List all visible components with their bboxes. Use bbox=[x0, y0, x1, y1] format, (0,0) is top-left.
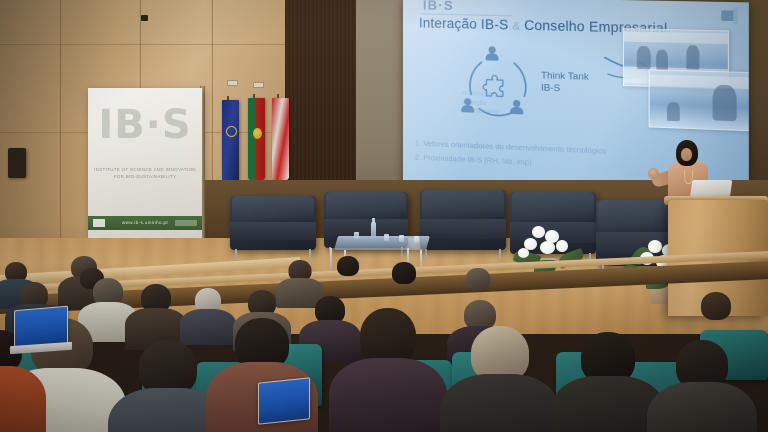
diagram-faint-line3: financiamento bbox=[461, 107, 499, 117]
person-head bbox=[466, 268, 491, 290]
speaker-face bbox=[681, 148, 692, 161]
conference-room-scene: IB·S Interação IB-S & Conselho Empresari… bbox=[0, 0, 768, 432]
chair-seat bbox=[420, 219, 506, 239]
banner-subtitle: INSTITUTE OF SCIENCE AND INNOVATION FOR … bbox=[94, 166, 196, 180]
slide-logo: IB·S bbox=[423, 0, 454, 13]
chair-leg bbox=[425, 249, 427, 259]
ibs-corner-logo-icon bbox=[721, 10, 733, 21]
slide-title-ampersand: & bbox=[512, 20, 520, 32]
wall-socket[interactable] bbox=[227, 80, 238, 86]
diagram-faint-text: Associação obtenção financiamento bbox=[461, 90, 499, 117]
drinking-glass[interactable] bbox=[414, 236, 419, 243]
person-icon bbox=[510, 100, 523, 117]
meeting-room-photo-2 bbox=[649, 69, 749, 131]
wall-fixture bbox=[141, 15, 148, 21]
chair-back bbox=[326, 192, 406, 219]
slide-bullet-list: 1. Vetores orientadores do desenvolvimen… bbox=[415, 136, 606, 173]
flag-regional bbox=[272, 98, 289, 180]
slide-title-main: Interação IB-S bbox=[419, 15, 508, 32]
think-tank-label-line2: IB-S bbox=[541, 82, 589, 96]
chair-back bbox=[422, 190, 504, 219]
wall-seam bbox=[60, 0, 61, 262]
chair-leg bbox=[235, 249, 237, 259]
chair-back bbox=[232, 196, 314, 222]
flower bbox=[532, 226, 545, 238]
photo-content bbox=[650, 70, 749, 130]
chair-seat bbox=[230, 222, 316, 240]
person-shoulders bbox=[440, 374, 560, 432]
speaker-hand bbox=[648, 168, 659, 179]
think-tank-label: Think Tank IB-S bbox=[541, 70, 589, 96]
wall-speaker-box bbox=[8, 148, 26, 178]
flower bbox=[540, 241, 555, 254]
banner-footer-partner-logos bbox=[175, 220, 197, 226]
think-tank-diagram: Think Tank IB-S Associação obtenção fina… bbox=[455, 45, 585, 129]
flag-portugal bbox=[248, 98, 265, 180]
photo-figure bbox=[656, 50, 668, 70]
flag-european-union bbox=[222, 100, 239, 182]
photo-window-band bbox=[624, 31, 728, 44]
person-shoulders bbox=[329, 358, 447, 432]
photo-figure bbox=[713, 85, 737, 122]
chair-back bbox=[512, 192, 594, 222]
person-shoulders bbox=[180, 309, 236, 345]
wall-socket[interactable] bbox=[253, 82, 264, 88]
drinking-glass[interactable] bbox=[384, 234, 389, 241]
person-head bbox=[701, 292, 731, 320]
stage-armchair[interactable] bbox=[420, 190, 506, 250]
person-head bbox=[337, 256, 359, 276]
water-bottle[interactable] bbox=[371, 222, 376, 239]
flower bbox=[648, 240, 662, 253]
banner-logo: IB·S bbox=[88, 102, 202, 148]
person-body bbox=[510, 107, 523, 115]
drinking-glass[interactable] bbox=[354, 232, 359, 239]
flower bbox=[556, 240, 568, 252]
banner-footer-strip: www.ib-s.uminho.pt bbox=[88, 216, 202, 230]
slide-corner-accent bbox=[733, 7, 737, 24]
chair-leg bbox=[309, 249, 311, 259]
audience-laptop-screen[interactable] bbox=[258, 377, 310, 424]
person-icon bbox=[485, 46, 498, 63]
chair-leg bbox=[499, 249, 501, 259]
person-head bbox=[392, 262, 416, 284]
person-head bbox=[489, 46, 496, 53]
photo-figure bbox=[667, 102, 680, 121]
stage-armchair[interactable] bbox=[230, 196, 316, 250]
flower bbox=[518, 248, 529, 258]
photo-figure bbox=[637, 46, 651, 69]
person-shoulders bbox=[647, 382, 757, 432]
person-body bbox=[485, 54, 498, 61]
person-head bbox=[513, 100, 520, 107]
photo-figure bbox=[686, 45, 699, 69]
ibs-rollup-banner: IB·S INSTITUTE OF SCIENCE AND INNOVATION… bbox=[88, 88, 202, 248]
drinking-glass[interactable] bbox=[399, 235, 404, 242]
photo-window-band bbox=[650, 74, 749, 89]
